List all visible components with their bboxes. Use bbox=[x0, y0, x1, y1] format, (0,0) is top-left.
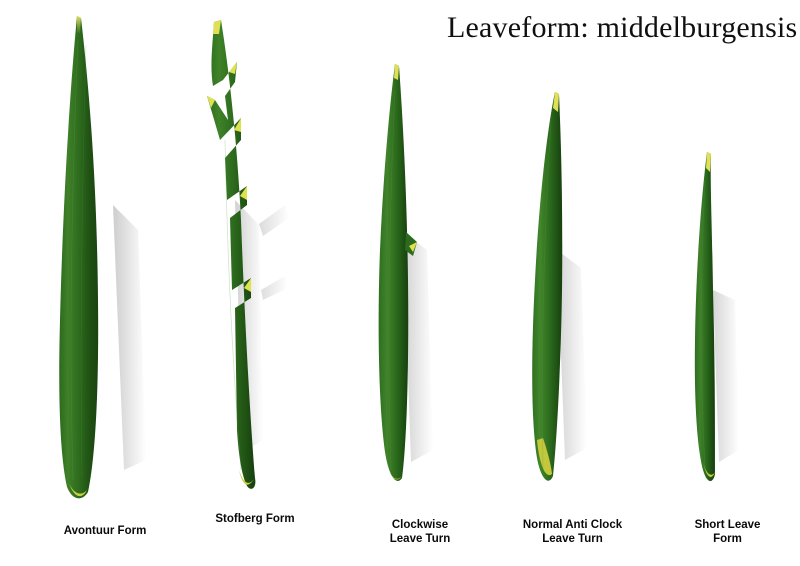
leaf-shadow bbox=[713, 290, 739, 462]
caption-short-leave: Short Leave Form bbox=[655, 518, 800, 546]
spine-shadow bbox=[259, 205, 289, 236]
leaf-comparison-plate: Leaveform: middelburgensis bbox=[0, 0, 800, 566]
leaf-avontuur bbox=[20, 0, 190, 520]
specimen-normal-anti-clock: Normal Anti Clock Leave Turn bbox=[495, 0, 650, 566]
spine-shadow bbox=[261, 276, 288, 300]
leaf-stofberg bbox=[185, 0, 325, 520]
caption-clockwise: Clockwise Leave Turn bbox=[345, 518, 495, 546]
specimen-short-leave: Short Leave Form bbox=[655, 0, 800, 566]
caption-avontuur: Avontuur Form bbox=[20, 524, 190, 538]
leaf-clockwise bbox=[345, 0, 495, 520]
specimen-stofberg: Stofberg Form bbox=[185, 0, 325, 566]
leaf-blade bbox=[695, 152, 715, 481]
caption-stofberg: Stofberg Form bbox=[185, 512, 325, 526]
leaf-blade bbox=[532, 92, 562, 481]
leaf-blade bbox=[59, 16, 98, 498]
specimen-avontuur: Avontuur Form bbox=[20, 0, 190, 566]
leaf-normal-anti-clock bbox=[495, 0, 650, 520]
specimen-clockwise: Clockwise Leave Turn bbox=[345, 0, 495, 566]
leaf-short-leave bbox=[655, 0, 800, 520]
caption-normal-anti-clock: Normal Anti Clock Leave Turn bbox=[495, 518, 650, 546]
leaf-shadow bbox=[113, 205, 146, 470]
